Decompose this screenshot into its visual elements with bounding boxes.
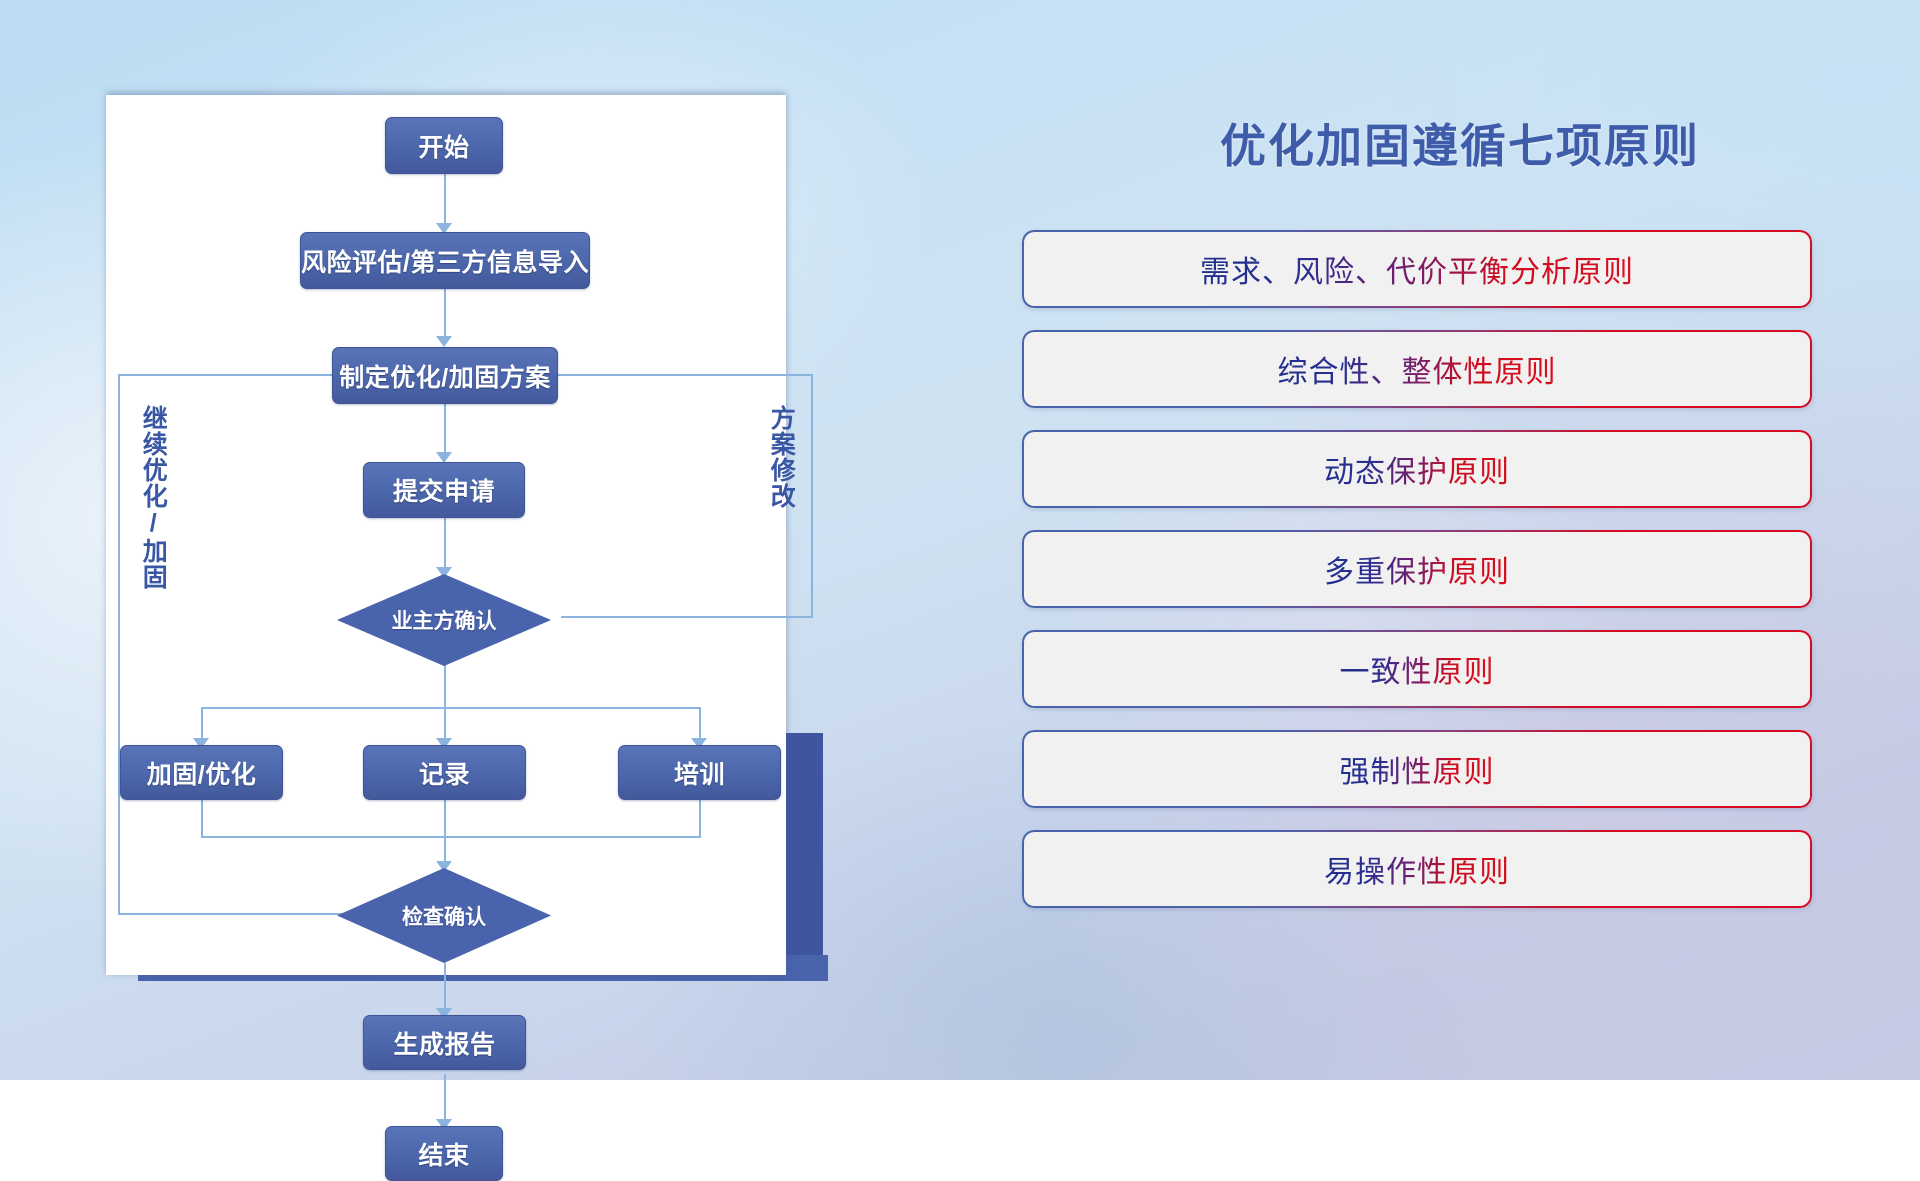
flow-node-submit-application[interactable]: 提交申请 xyxy=(363,462,525,518)
principles-list: 需求、风险、代价平衡分析原则 综合性、整体性原则 动态保护原则 多重保护原则 一… xyxy=(1022,230,1812,930)
principle-card-4[interactable]: 多重保护原则 xyxy=(1022,530,1812,608)
connector-start-risk xyxy=(444,174,446,230)
connector-right-loop-top xyxy=(538,374,813,376)
connector-right-loop-vert xyxy=(811,374,813,618)
connector-harden-merge xyxy=(201,800,203,838)
edge-label-right-loop: 方案修改 xyxy=(768,405,794,509)
principle-label: 一致性原则 xyxy=(1340,647,1495,691)
principle-label: 综合性、整体性原则 xyxy=(1278,347,1557,391)
connector-risk-plan xyxy=(444,289,446,343)
flow-node-training[interactable]: 培训 xyxy=(618,745,781,800)
connector-owner-bus xyxy=(444,665,446,709)
connector-plan-submit xyxy=(444,404,446,459)
page-title: 优化加固遵循七项原则 xyxy=(1150,110,1770,176)
principle-card-6[interactable]: 强制性原则 xyxy=(1022,730,1812,808)
flow-node-check-confirm[interactable]: 检查确认 xyxy=(337,868,551,963)
principle-label: 动态保护原则 xyxy=(1324,447,1510,491)
principle-card-3[interactable]: 动态保护原则 xyxy=(1022,430,1812,508)
connector-left-loop-vert xyxy=(118,374,120,915)
flow-node-record[interactable]: 记录 xyxy=(363,745,526,800)
flow-node-owner-confirm[interactable]: 业主方确认 xyxy=(337,574,551,666)
flow-node-start[interactable]: 开始 xyxy=(385,117,503,174)
principle-label: 需求、风险、代价平衡分析原则 xyxy=(1200,247,1634,291)
flowchart-panel: 继续优化/加固 方案修改 开始 风险评估/第三方信息导入 制定优化/加固方案 提… xyxy=(106,95,786,975)
edge-label-left-loop: 继续优化/加固 xyxy=(140,405,166,590)
flow-node-generate-report[interactable]: 生成报告 xyxy=(363,1015,526,1070)
principle-label: 多重保护原则 xyxy=(1324,547,1510,591)
connector-train-merge xyxy=(699,800,701,838)
flow-node-risk-assessment[interactable]: 风险评估/第三方信息导入 xyxy=(300,232,590,289)
flow-node-end[interactable]: 结束 xyxy=(385,1126,503,1181)
principle-card-2[interactable]: 综合性、整体性原则 xyxy=(1022,330,1812,408)
principle-card-5[interactable]: 一致性原则 xyxy=(1022,630,1812,708)
connector-right-loop-bottom xyxy=(561,616,813,618)
arrowhead-risk-plan xyxy=(436,336,452,347)
principle-label: 强制性原则 xyxy=(1340,747,1495,791)
flow-node-plan[interactable]: 制定优化/加固方案 xyxy=(332,347,558,404)
connector-submit-owner xyxy=(444,518,446,574)
connector-record-check xyxy=(444,800,446,868)
principle-card-1[interactable]: 需求、风险、代价平衡分析原则 xyxy=(1022,230,1812,308)
principle-card-7[interactable]: 易操作性原则 xyxy=(1022,830,1812,908)
flow-node-harden-optimize[interactable]: 加固/优化 xyxy=(120,745,283,800)
connector-merge-bus xyxy=(201,836,701,838)
principle-label: 易操作性原则 xyxy=(1324,847,1510,891)
connector-fanout-bus xyxy=(201,707,701,709)
